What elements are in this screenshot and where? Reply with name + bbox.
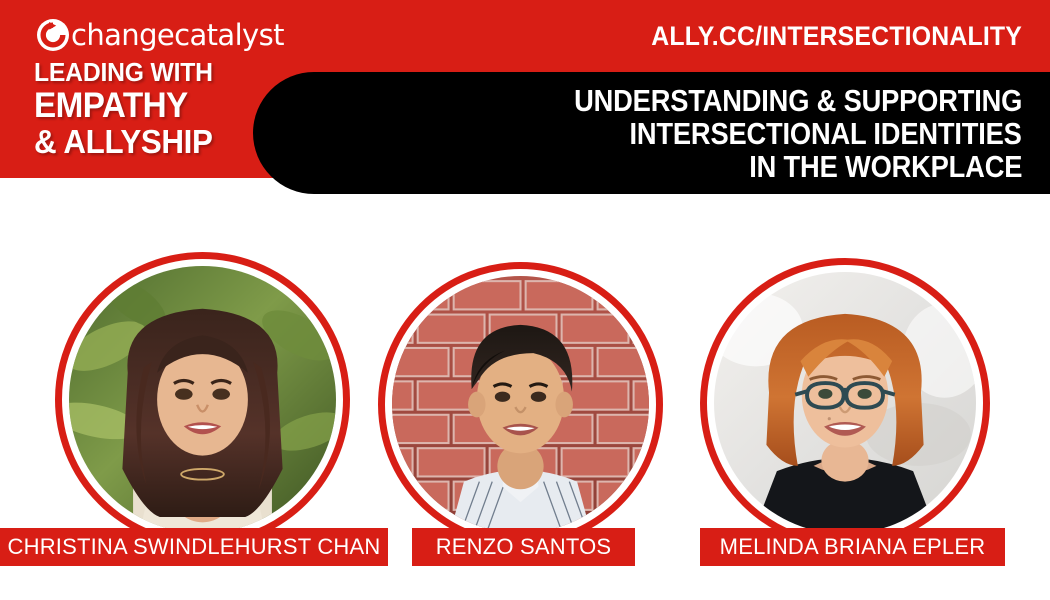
speaker-1-avatar [69, 266, 336, 533]
series-title: LEADING WITH EMPATHY & ALLYSHIP [34, 58, 222, 160]
speaker-2-portrait-ring [378, 262, 663, 547]
series-title-line-2: EMPATHY [34, 87, 213, 124]
speaker-3-avatar [714, 272, 976, 534]
changecatalyst-logo: changecatalyst [36, 18, 284, 52]
session-title-line-1: UNDERSTANDING & SUPPORTING [574, 84, 1022, 117]
webinar-title-slide: changecatalyst LEADING WITH EMPATHY & AL… [0, 0, 1050, 600]
session-title-banner: UNDERSTANDING & SUPPORTING INTERSECTIONA… [253, 72, 1050, 194]
circular-arrow-c-icon [36, 18, 70, 52]
speaker-1-name: CHRISTINA SWINDLEHURST CHAN [8, 534, 381, 560]
series-title-line-1: LEADING WITH [34, 58, 213, 87]
speaker-3-portrait-ring [700, 258, 990, 548]
speaker-3-name: MELINDA BRIANA EPLER [720, 534, 986, 560]
speaker-2-avatar [392, 276, 649, 533]
series-title-line-3: & ALLYSHIP [34, 124, 213, 160]
session-title-line-2: INTERSECTIONAL IDENTITIES [630, 117, 1022, 150]
speaker-2-name: RENZO SANTOS [436, 534, 612, 560]
event-url[interactable]: ALLY.CC/INTERSECTIONALITY [651, 20, 1022, 52]
speaker-1-portrait-ring [55, 252, 350, 547]
session-title-line-3: IN THE WORKPLACE [749, 150, 1022, 183]
speaker-row: CHRISTINA SWINDLEHURST CHAN [0, 190, 1050, 600]
speaker-3-name-bar: MELINDA BRIANA EPLER [700, 528, 1005, 566]
speaker-2-name-bar: RENZO SANTOS [412, 528, 635, 566]
speaker-1-name-bar: CHRISTINA SWINDLEHURST CHAN [0, 528, 388, 566]
logo-wordmark: changecatalyst [71, 18, 284, 52]
